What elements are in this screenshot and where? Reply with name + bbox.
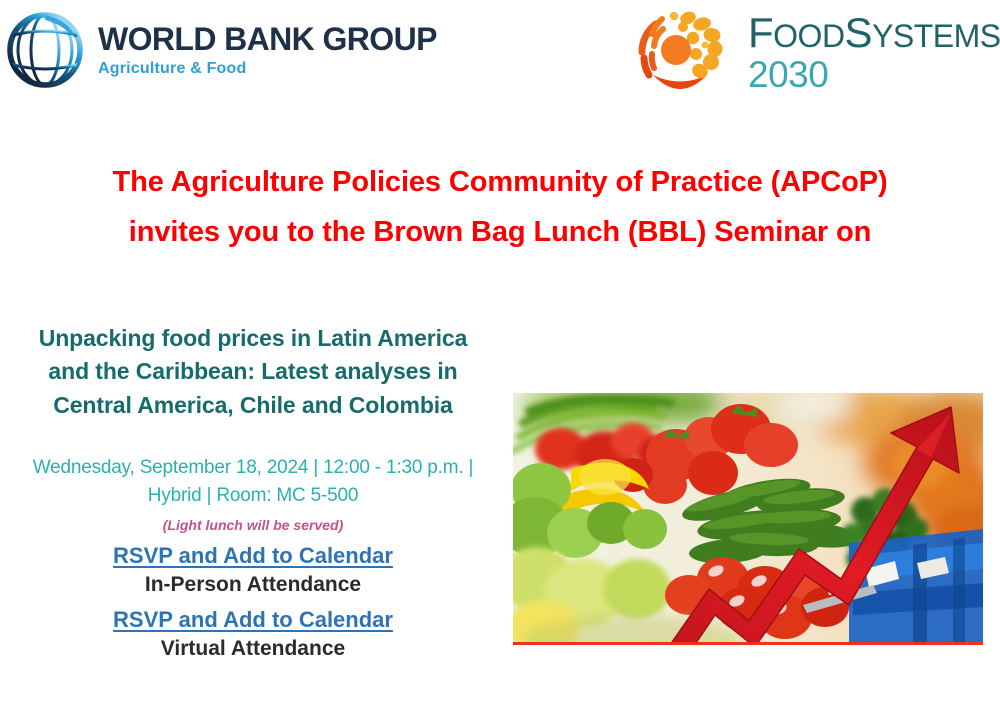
world-bank-name: WORLD BANK GROUP xyxy=(98,23,437,57)
lunch-note: (Light lunch will be served) xyxy=(8,516,498,534)
seminar-when: Wednesday, September 18, 2024 | 12:00 - … xyxy=(8,454,498,509)
invite-heading: The Agriculture Policies Community of Pr… xyxy=(0,158,1000,258)
fs-name-ystems: YSTEMS xyxy=(872,18,1000,54)
foodsystems-sun-icon xyxy=(626,2,734,104)
fs-name-ood: OOD xyxy=(773,18,844,54)
foodsystems-name: FOODSYSTEMS xyxy=(748,12,1000,54)
invite-line-1: The Agriculture Policies Community of Pr… xyxy=(0,158,1000,208)
vegetable-market-photo xyxy=(513,393,983,645)
world-bank-logo: WORLD BANK GROUP Agriculture & Food xyxy=(4,6,437,94)
rsvp-in-person-link[interactable]: RSVP and Add to Calendar xyxy=(8,542,498,570)
foodsystems-wordmark: FOODSYSTEMS 2030 xyxy=(748,2,1000,95)
world-bank-unit: Agriculture & Food xyxy=(98,60,437,78)
in-person-attendance-label: In-Person Attendance xyxy=(8,571,498,598)
fs-name-f: F xyxy=(748,9,773,56)
seminar-details: Unpacking food prices in Latin America a… xyxy=(8,322,498,662)
header-logos: WORLD BANK GROUP Agriculture & Food xyxy=(0,0,1000,112)
foodsystems-year: 2030 xyxy=(748,56,1000,95)
fs-name-s: S xyxy=(845,9,873,56)
world-bank-wordmark: WORLD BANK GROUP Agriculture & Food xyxy=(98,23,437,77)
seminar-title: Unpacking food prices in Latin America a… xyxy=(8,322,498,422)
foodsystems-logo: FOODSYSTEMS 2030 xyxy=(626,2,1000,104)
rsvp-virtual-link[interactable]: RSVP and Add to Calendar xyxy=(8,606,498,634)
world-bank-globe-icon xyxy=(4,6,86,94)
vegetable-market-illustration xyxy=(513,393,983,642)
invite-line-2: invites you to the Brown Bag Lunch (BBL)… xyxy=(0,208,1000,258)
virtual-attendance-label: Virtual Attendance xyxy=(8,635,498,662)
